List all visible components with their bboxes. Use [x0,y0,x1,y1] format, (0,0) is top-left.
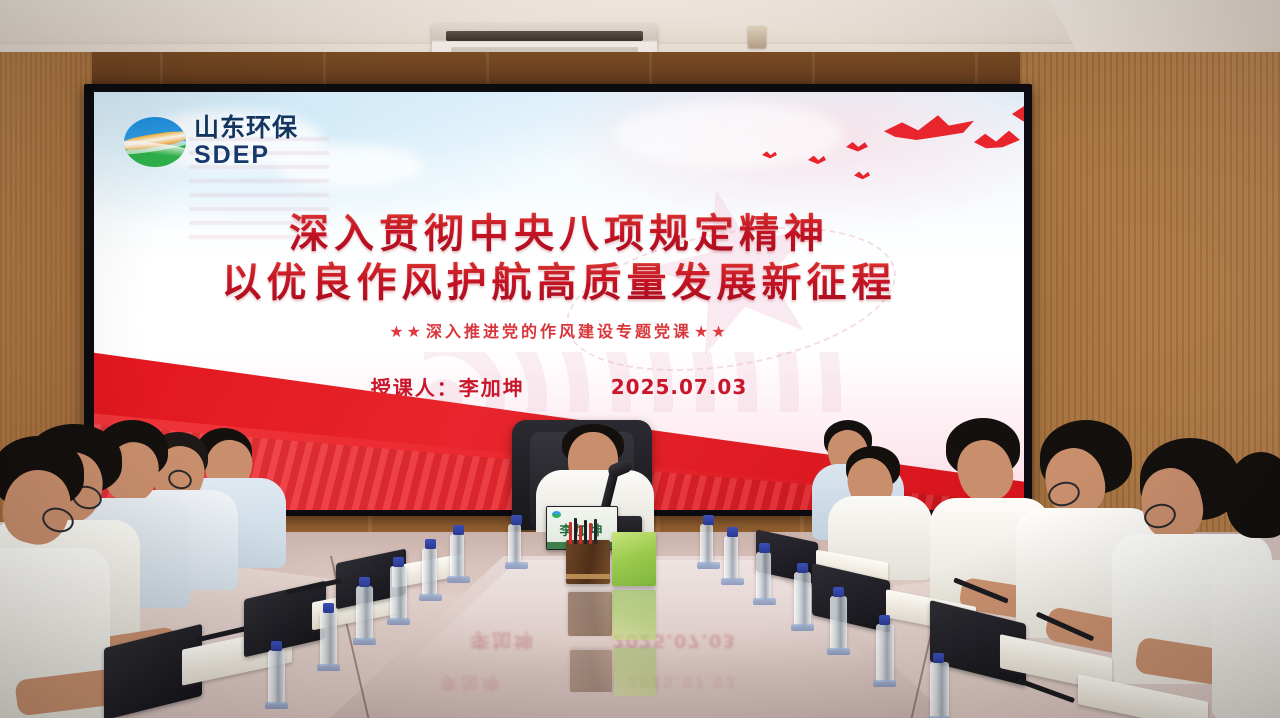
logo-text: 山东环保 SDEP [194,116,298,168]
logo-chinese-name: 山东环保 [194,116,298,141]
water-bottle [268,650,285,704]
logo-english-name: SDEP [194,143,298,168]
water-bottle [390,566,407,620]
slide-title-line-1: 深入贯彻中央八项规定精神 [94,210,1024,259]
table-reflection-name: 李加坤 [470,628,536,655]
dove-icon [846,140,868,154]
slide-title-line-2: 以优良作风护航高质量发展新征程 [94,259,1024,308]
star-glyph-right: ★★ [694,324,729,341]
sdep-logo-icon [124,117,186,167]
small-plant [612,532,656,586]
slide-subtitle: ★★深入推进党的作风建设专题党课★★ [94,318,1024,342]
pen-holder [566,540,610,584]
meeting-room-photo: 山东环保 SDEP 深入贯彻中央八项规定精神 以优良作风护航高质量发展新征程 ★… [0,0,1280,718]
water-bottle [356,586,373,640]
torso [1212,560,1280,718]
water-bottle [450,534,464,578]
dove-icon [974,128,1020,154]
slide-subtitle-text: 深入推进党的作风建设专题党课 [426,324,692,341]
cloud-decor [614,102,844,168]
water-bottle [724,536,738,580]
pen-holder-reflection [568,592,612,636]
star-glyph-left: ★★ [389,324,424,341]
water-bottle [508,524,521,564]
dove-icon [884,112,974,152]
pens-in-holder [569,518,597,544]
water-bottle [700,524,713,564]
plant-reflection-2 [614,648,656,696]
table-reflection-name-2: 李加坤 [440,672,503,697]
water-bottle [794,572,811,626]
water-bottle [756,552,771,600]
plant-reflection [612,590,656,640]
pen-holder-band [566,574,610,579]
water-bottle [930,662,949,718]
ceiling-sensor-icon [748,26,766,48]
water-bottle [320,612,337,666]
water-bottle [876,624,894,682]
water-bottle [422,548,437,596]
ac-vent [446,31,643,41]
water-bottle [830,596,847,650]
pen-holder-reflection-2 [570,650,612,692]
nameplate-logo-icon [552,511,561,518]
sdep-logo: 山东环保 SDEP [124,116,298,168]
dove-icon [854,170,870,181]
slide-date: 2025.07.03 [611,375,748,399]
dove-icon [1012,102,1024,132]
slide-title-block: 深入贯彻中央八项规定精神 以优良作风护航高质量发展新征程 ★★深入推进党的作风建… [94,210,1024,342]
